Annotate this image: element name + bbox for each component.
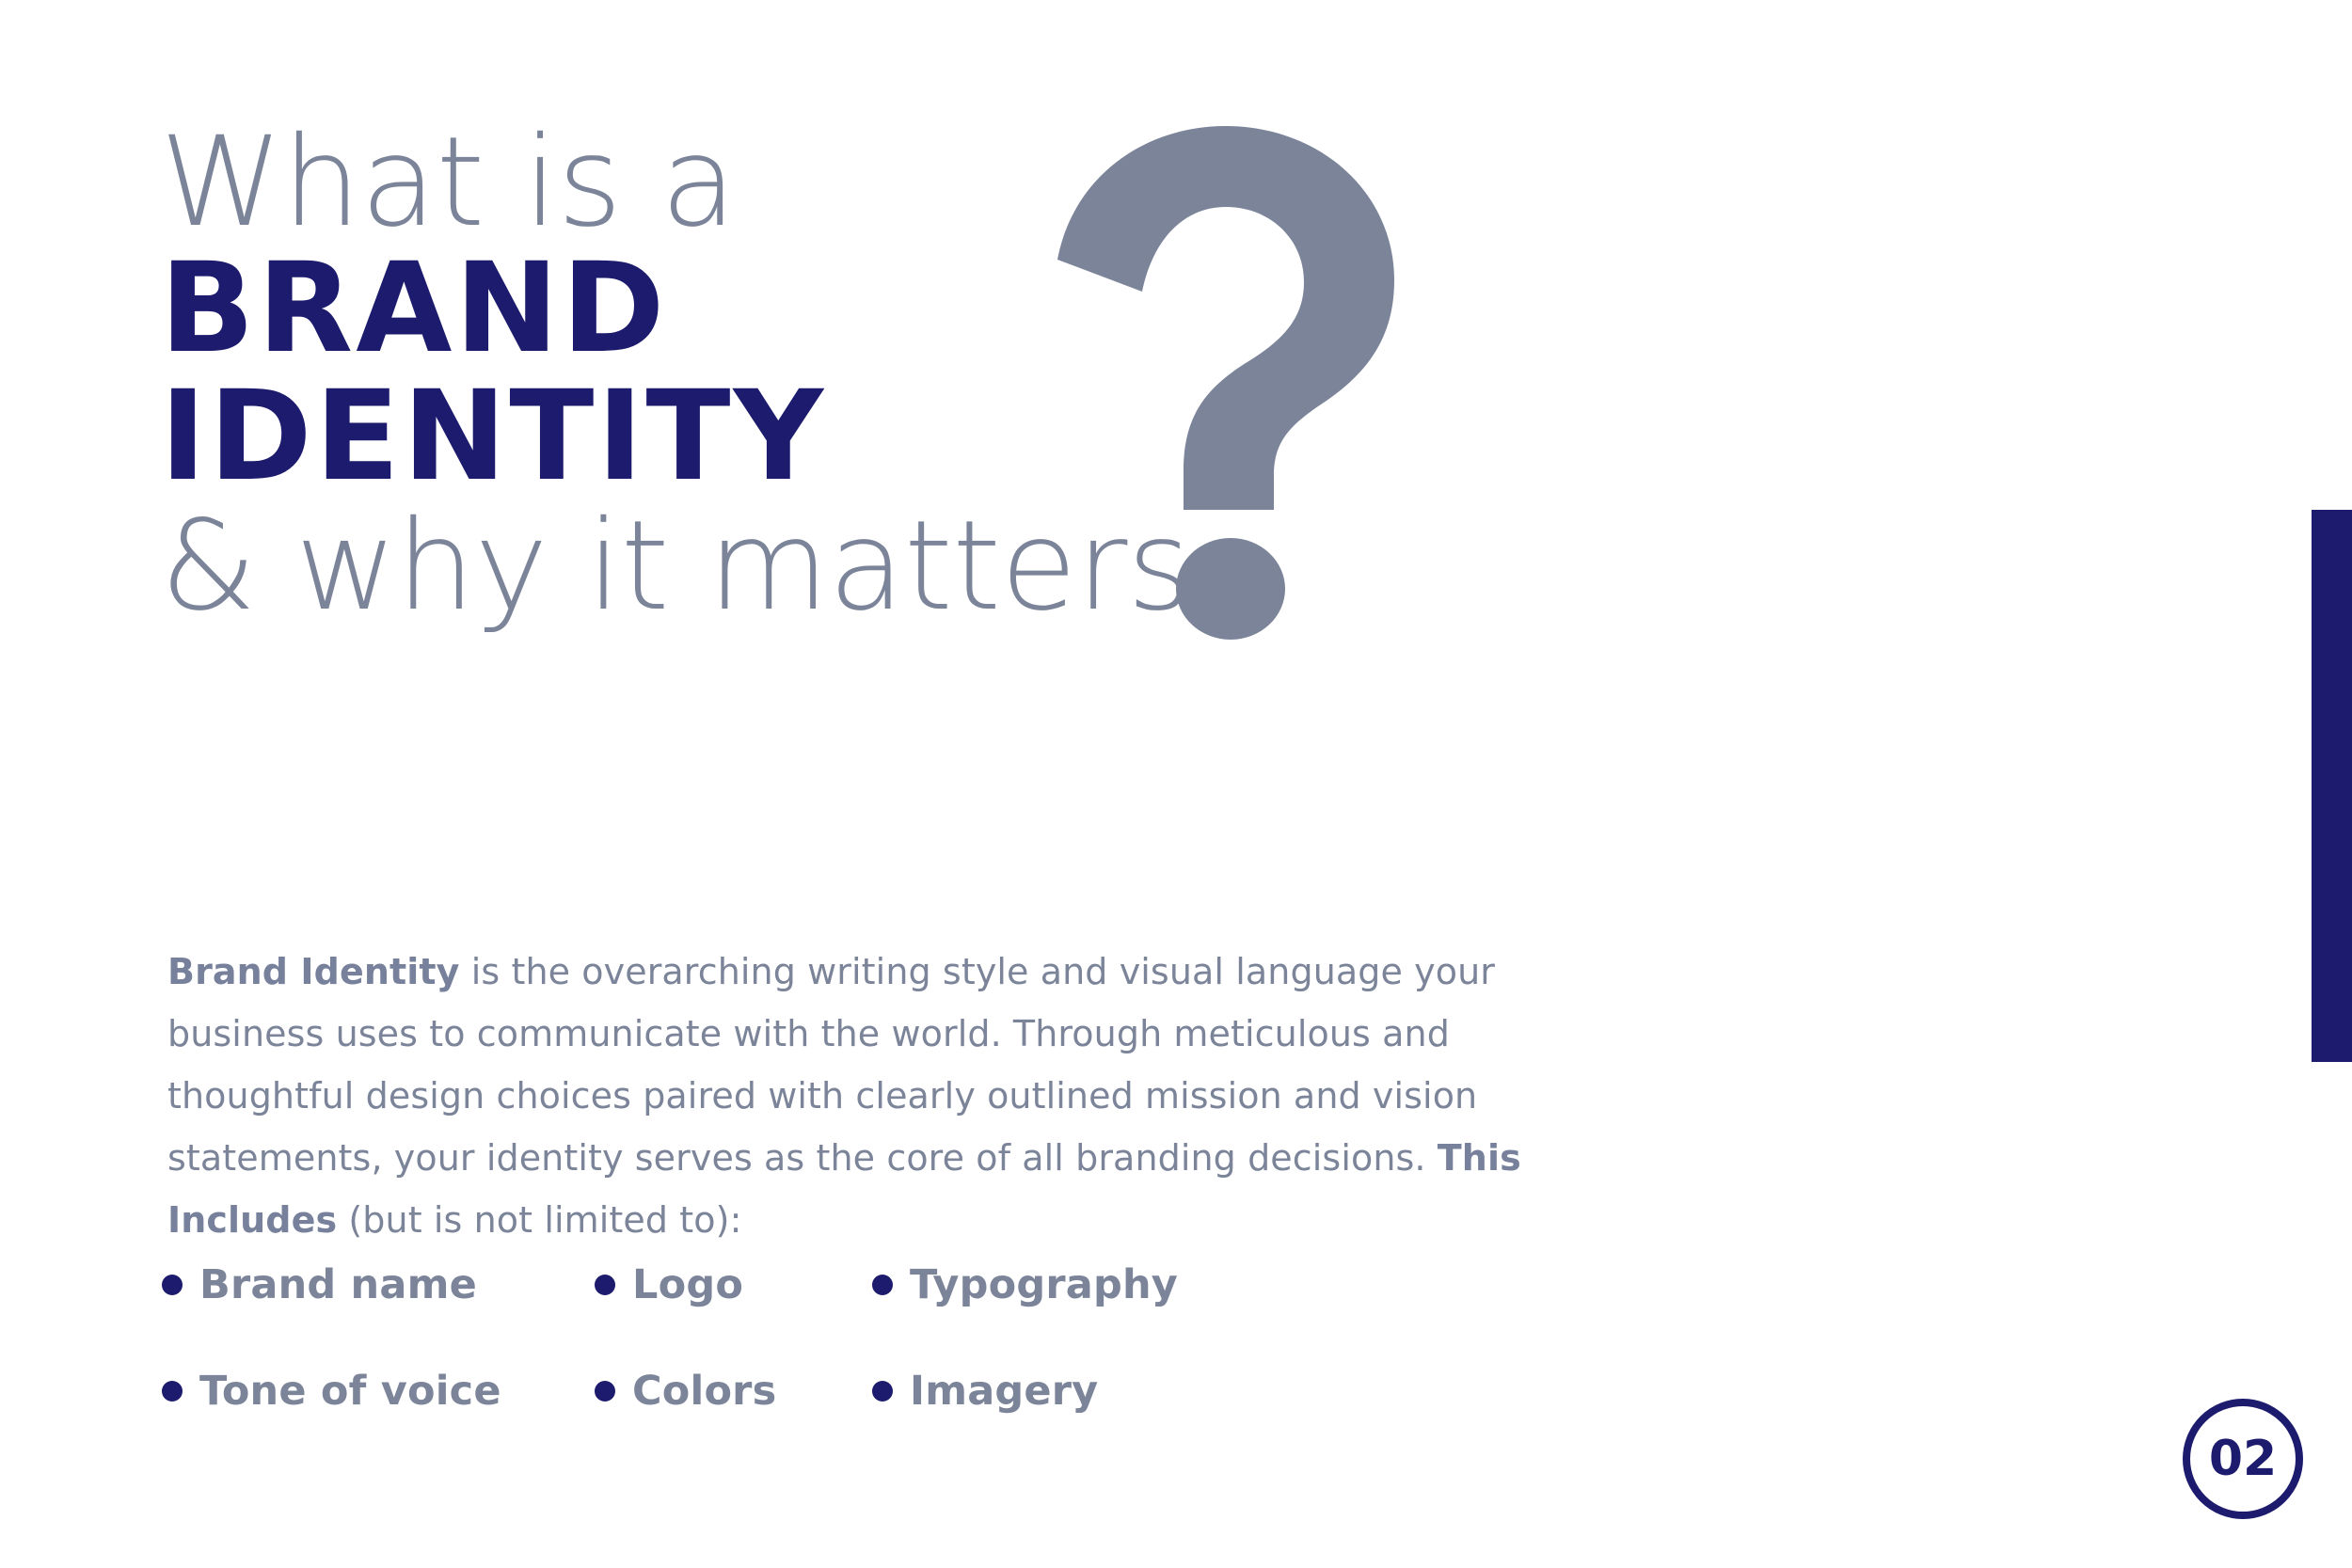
body-text-part-2: (but is not limited to): <box>337 1199 741 1241</box>
slide-canvas: What is a BRAND IDENTITY & why it matter… <box>0 0 2352 1568</box>
list-item: Colors <box>595 1365 872 1418</box>
list-item: Brand name <box>162 1259 595 1311</box>
bullet-label: Imagery <box>910 1368 1098 1415</box>
bullet-label: Logo <box>632 1261 743 1308</box>
body-lead-bold: Brand Identity <box>167 951 460 992</box>
bullet-label: Tone of voice <box>199 1368 501 1415</box>
list-item: Typography <box>872 1259 1248 1311</box>
bullet-dot-icon <box>595 1381 615 1402</box>
headline-line-3: IDENTITY <box>160 376 1759 497</box>
list-item: Logo <box>595 1259 872 1311</box>
page-number-label: 02 <box>2183 1399 2303 1519</box>
bullet-label: Brand name <box>199 1261 477 1308</box>
right-edge-accent-bar <box>2312 510 2352 1062</box>
includes-bullet-grid: Brand name Logo Typography Tone of voice… <box>162 1259 1385 1471</box>
bullet-dot-icon <box>872 1381 893 1402</box>
bullet-dot-icon <box>162 1275 183 1295</box>
headline-line-4: & why it matters <box>160 506 1759 626</box>
list-item: Tone of voice <box>162 1365 595 1418</box>
bullet-dot-icon <box>872 1275 893 1295</box>
body-paragraph: Brand Identity is the overarching writin… <box>167 941 1635 1251</box>
bullet-dot-icon <box>162 1381 183 1402</box>
bullet-label: Typography <box>910 1261 1178 1308</box>
page-title: What is a BRAND IDENTITY & why it matter… <box>160 122 1759 626</box>
list-item: Imagery <box>872 1365 1248 1418</box>
bullet-label: Colors <box>632 1368 776 1415</box>
page-number-badge: 02 <box>2183 1399 2303 1519</box>
bullet-dot-icon <box>595 1275 615 1295</box>
headline-line-1: What is a <box>160 122 1759 243</box>
headline-line-2: BRAND <box>160 248 1759 369</box>
